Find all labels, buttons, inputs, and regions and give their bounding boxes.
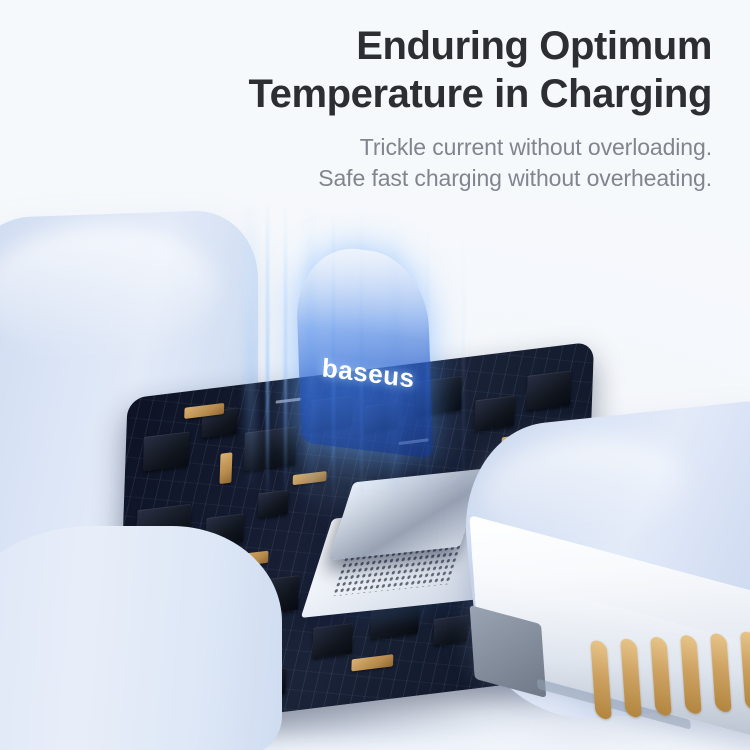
usb-pin (590, 639, 612, 721)
holo-plane (295, 241, 434, 458)
usb-pin (740, 630, 750, 712)
product-feature-banner: Enduring Optimum Temperature in Charging… (0, 0, 750, 750)
pcb-chip (526, 370, 571, 410)
subtitle-line-2: Safe fast charging without overheating. (0, 163, 712, 194)
pcb-chip (143, 431, 190, 471)
usb-pin (650, 635, 672, 717)
subtitle-line-1: Trickle current without overloading. (0, 132, 712, 163)
copy-block: Enduring Optimum Temperature in Charging… (0, 0, 750, 194)
pcb-gold-pad (219, 452, 232, 484)
usb-pin (680, 633, 702, 715)
headline-line-2: Temperature in Charging (0, 70, 712, 118)
usb-pin (620, 637, 642, 719)
product-scene: baseus (0, 196, 750, 750)
charger-body-left-lower (0, 526, 282, 750)
holographic-panel: baseus (298, 240, 448, 470)
pcb-gold-pad (351, 654, 393, 671)
headline-line-1: Enduring Optimum (0, 22, 712, 70)
usb-a-connector (472, 538, 750, 750)
